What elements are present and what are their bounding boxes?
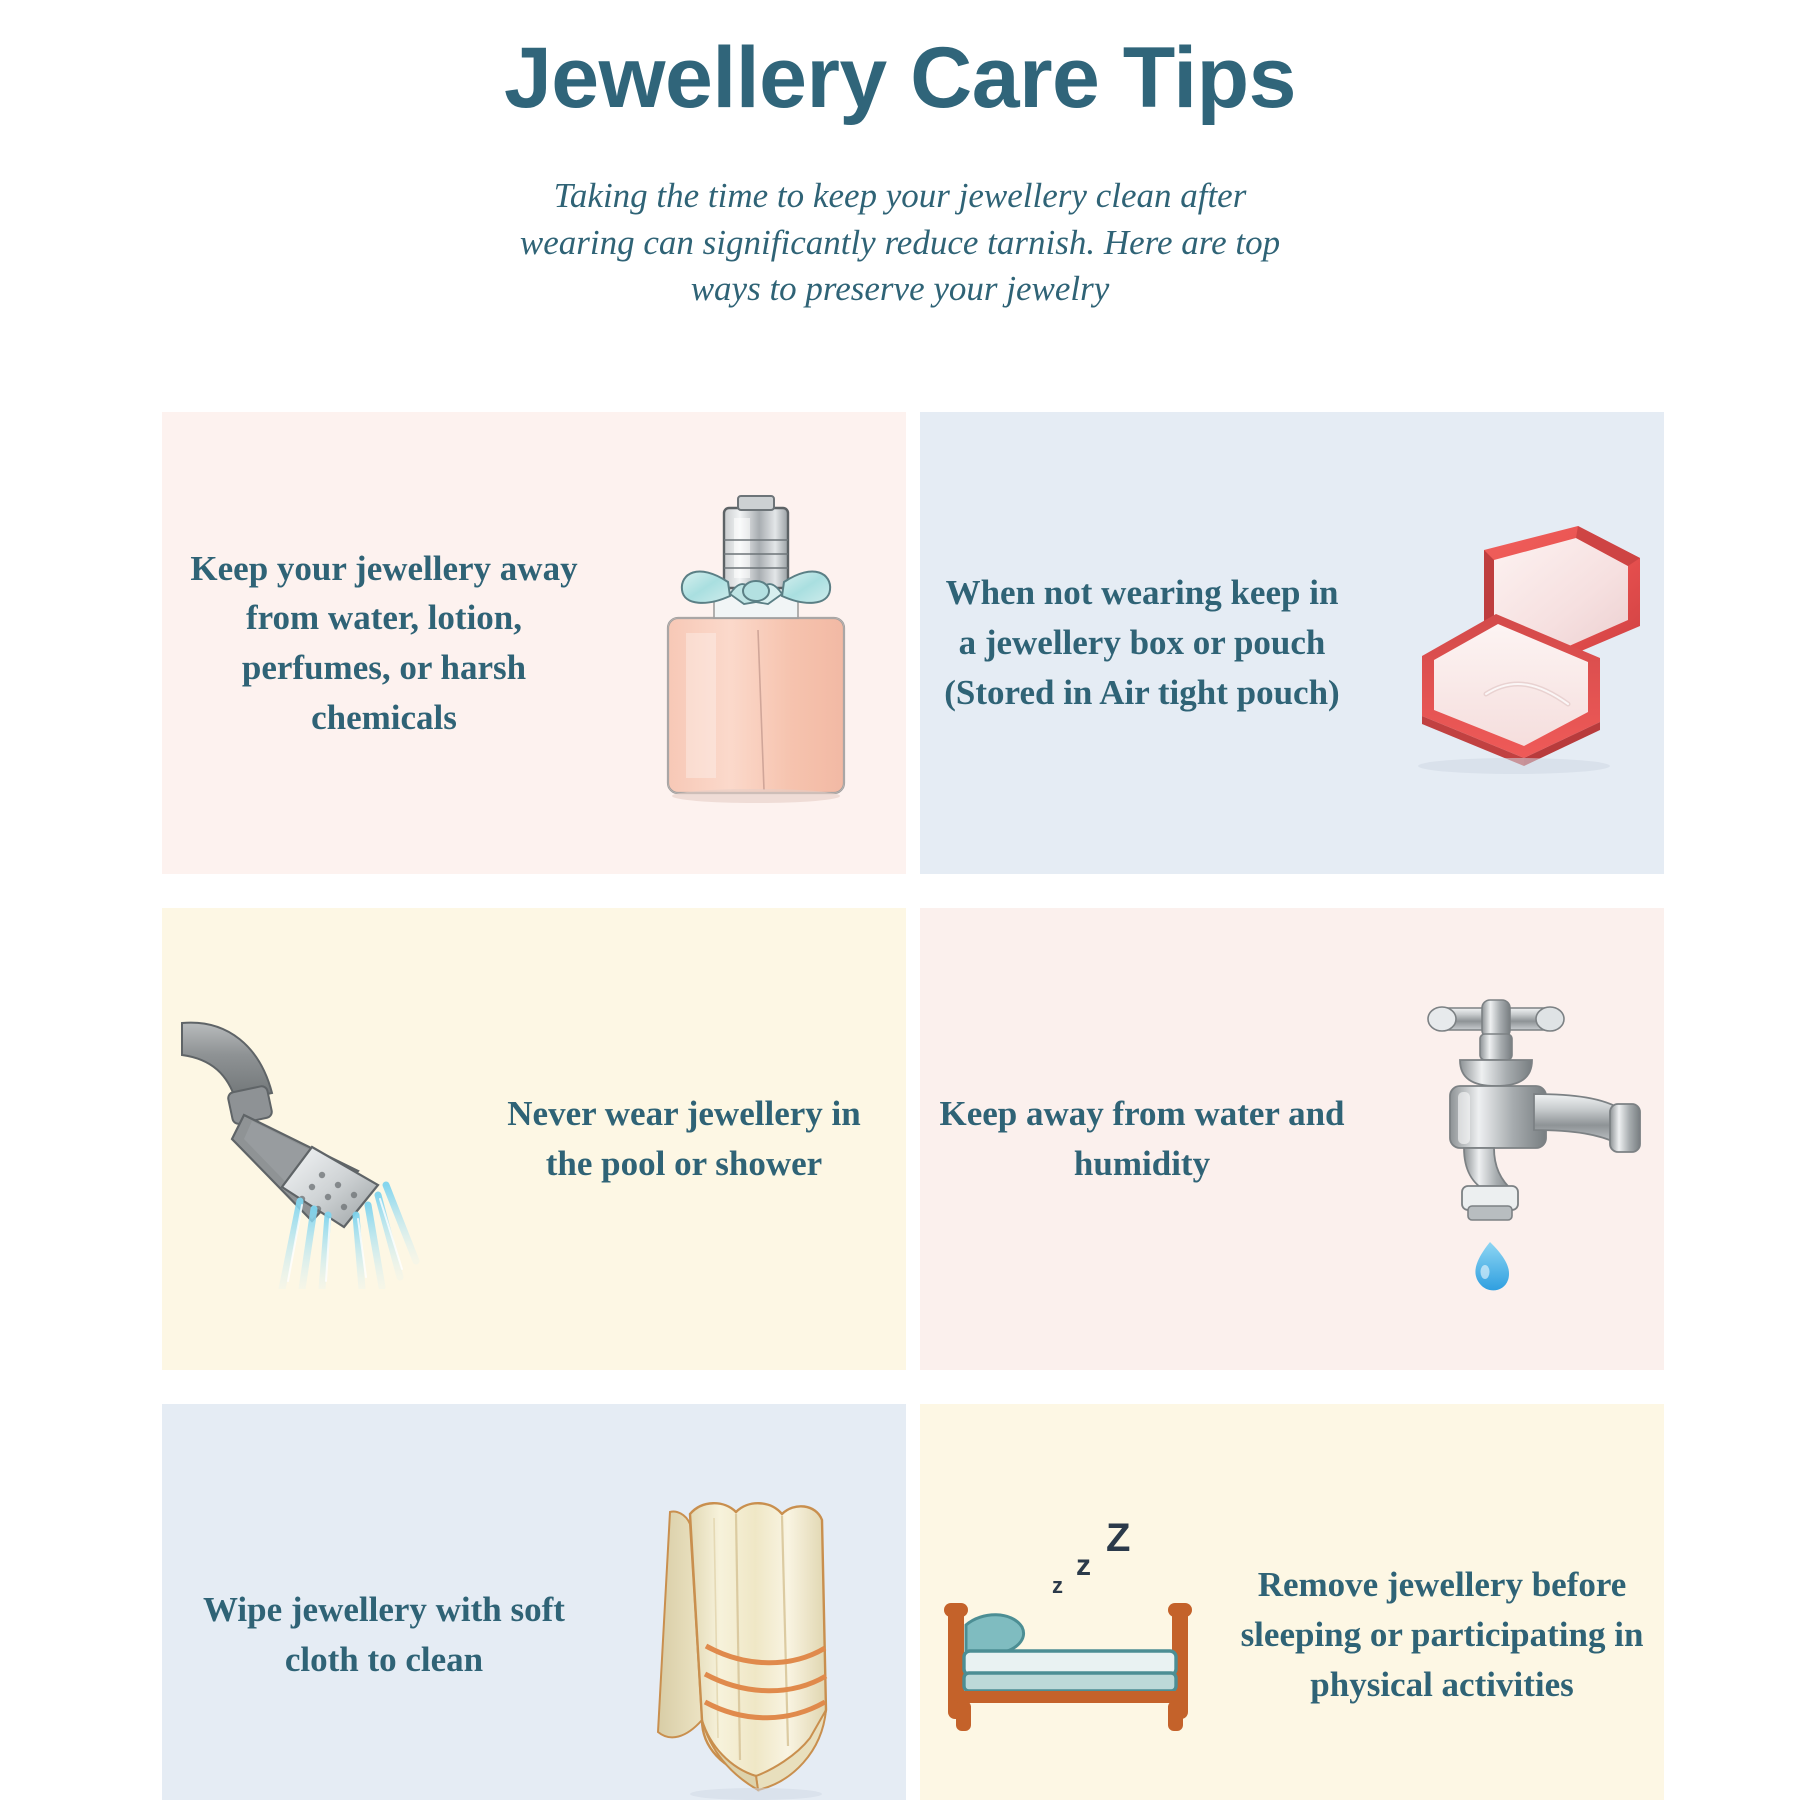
soft-cloth-icon [606, 1404, 906, 1800]
faucet-dripping-icon [1364, 908, 1664, 1370]
tip-card-chemicals-label: Keep your jewellery away from water, lot… [162, 544, 606, 743]
infographic-page: Jewellery Care Tips Taking the time to k… [0, 0, 1800, 1800]
header: Jewellery Care Tips Taking the time to k… [0, 0, 1800, 312]
jewellery-ring-box-icon [1364, 412, 1664, 874]
tip-card-pool-shower: Never wear jewellery in the pool or show… [162, 908, 906, 1370]
svg-text:z: z [1052, 1573, 1063, 1598]
perfume-bottle-icon [606, 412, 906, 874]
tip-card-wipe-cloth: Wipe jewellery with soft cloth to clean [162, 1404, 906, 1800]
tip-card-wipe-cloth-label: Wipe jewellery with soft cloth to clean [162, 1585, 606, 1684]
tip-card-humidity-label: Keep away from water and humidity [920, 1089, 1364, 1188]
tip-card-humidity: Keep away from water and humidity [920, 908, 1664, 1370]
tip-card-storage: When not wearing keep in a jewellery box… [920, 412, 1664, 874]
tip-card-pool-shower-label: Never wear jewellery in the pool or show… [462, 1089, 906, 1188]
svg-text:Z: Z [1106, 1516, 1130, 1560]
bed-sleeping-icon: Z z z [920, 1404, 1220, 1800]
tips-grid: Keep your jewellery away from water, lot… [162, 412, 1639, 1800]
page-title: Jewellery Care Tips [0, 28, 1800, 129]
tip-card-sleep-activity-label: Remove jewellery before sleeping or part… [1220, 1560, 1664, 1709]
shower-head-icon [162, 908, 462, 1370]
page-subtitle: Taking the time to keep your jewellery c… [500, 173, 1300, 312]
tip-card-storage-label: When not wearing keep in a jewellery box… [920, 568, 1364, 717]
tip-card-sleep-activity: Remove jewellery before sleeping or part… [920, 1404, 1664, 1800]
tip-card-chemicals: Keep your jewellery away from water, lot… [162, 412, 906, 874]
svg-text:z: z [1076, 1549, 1091, 1582]
